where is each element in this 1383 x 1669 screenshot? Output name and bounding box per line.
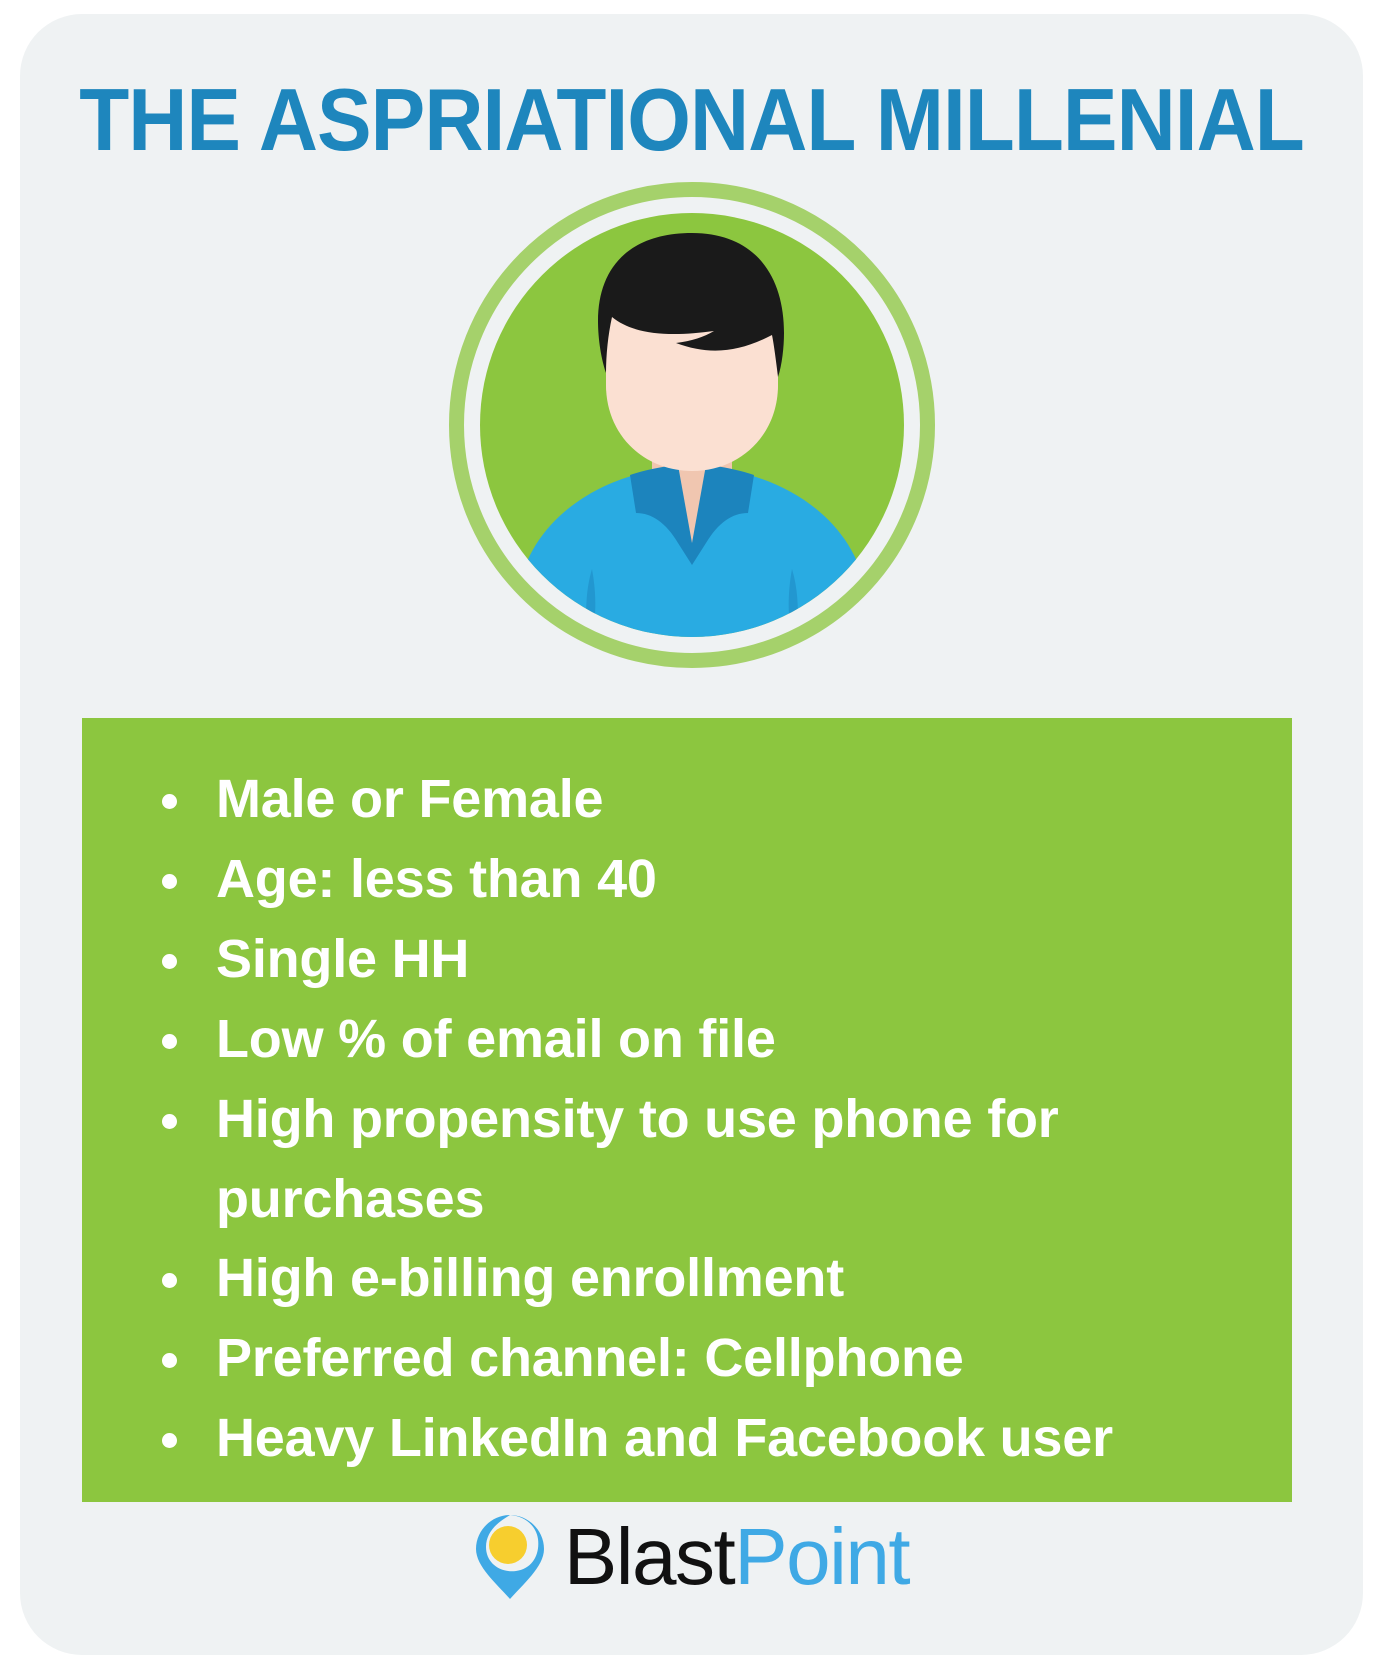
list-item: Age: less than 40 — [154, 840, 1256, 920]
blastpoint-pin-logo-icon — [474, 1513, 546, 1601]
male-persona-avatar-icon — [480, 213, 904, 637]
logo-word-blast: Blast — [564, 1512, 734, 1601]
page-title: THE ASPRIATIONAL MILLENIAL — [67, 76, 1316, 164]
list-item: Single HH — [154, 920, 1256, 1000]
list-item: High propensity to use phone for purchas… — [154, 1080, 1256, 1240]
logo-wordmark: BlastPoint — [564, 1517, 909, 1597]
avatar — [449, 182, 935, 668]
brand-logo: BlastPoint — [20, 1513, 1363, 1601]
traits-panel: Male or Female Age: less than 40 Single … — [82, 718, 1292, 1502]
persona-card: THE ASPRIATIONAL MILLENIAL — [20, 14, 1363, 1655]
list-item: Preferred channel: Cellphone — [154, 1319, 1256, 1399]
logo-word-point: Point — [734, 1512, 909, 1601]
list-item: High e-billing enrollment — [154, 1239, 1256, 1319]
list-item: Male or Female — [154, 760, 1256, 840]
avatar-circle — [480, 213, 904, 637]
list-item: Heavy LinkedIn and Facebook user — [154, 1399, 1256, 1479]
traits-list: Male or Female Age: less than 40 Single … — [154, 760, 1256, 1479]
list-item: Low % of email on file — [154, 1000, 1256, 1080]
